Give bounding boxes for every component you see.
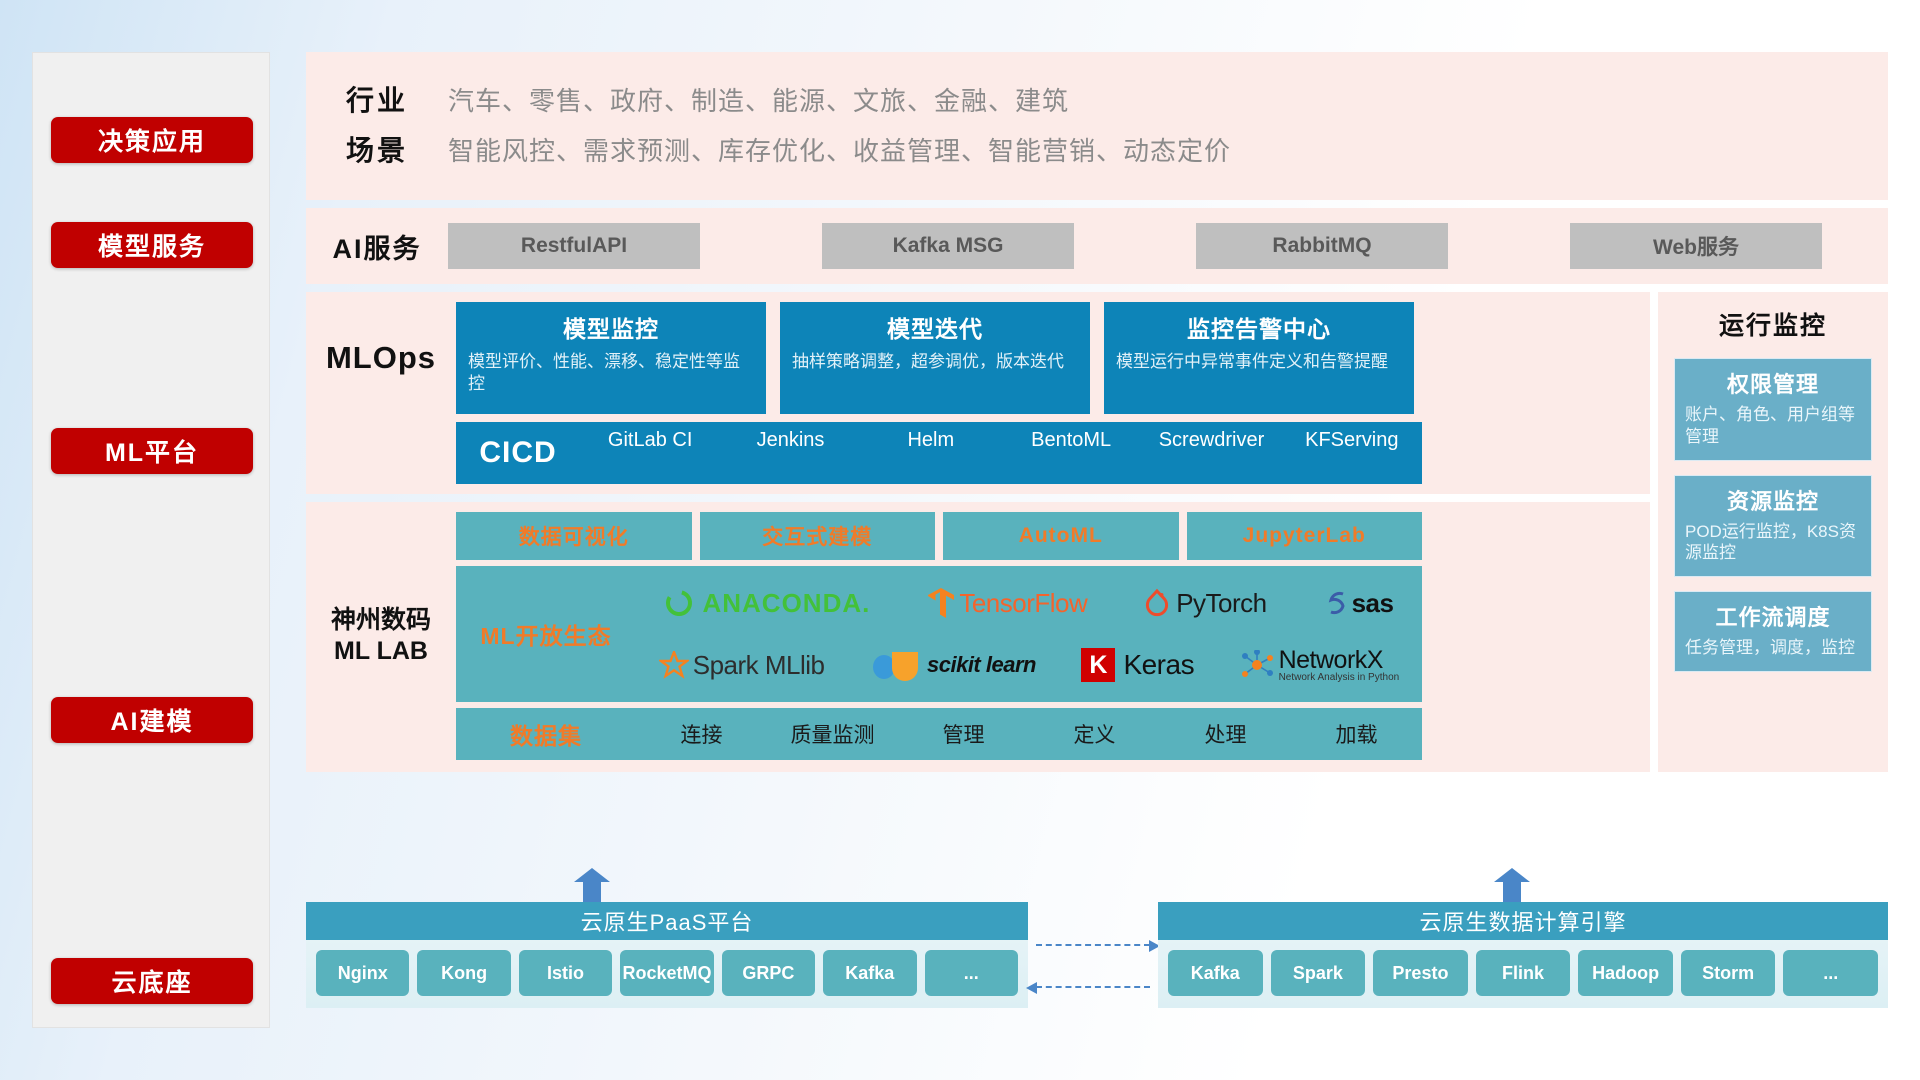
compute-chip-presto[interactable]: Presto bbox=[1373, 950, 1468, 996]
dataset-item-management[interactable]: 管理 bbox=[898, 719, 1029, 749]
link-arrow-right-icon bbox=[1036, 944, 1150, 946]
service-chip[interactable]: RestfulAPI bbox=[448, 223, 700, 269]
dataset-label: 数据集 bbox=[456, 717, 636, 751]
runtime-monitoring-title: 运行监控 bbox=[1674, 306, 1872, 342]
ml-ecosystem-logos: ANACONDA. TensorFlow bbox=[636, 572, 1422, 696]
ml-lab-tools: 数据可视化 交互式建模 AutoML JupyterLab bbox=[456, 512, 1422, 560]
cicd-item-kfserving[interactable]: KFServing bbox=[1282, 430, 1422, 476]
sas-icon bbox=[1324, 588, 1350, 618]
service-chip[interactable]: Kafka MSG bbox=[822, 223, 1074, 269]
networkx-logo: NetworkX Network Analysis in Python bbox=[1240, 648, 1400, 683]
networkx-icon bbox=[1240, 650, 1274, 680]
monitor-card-workflow-scheduling[interactable]: 工作流调度 任务管理，调度，监控 bbox=[1674, 591, 1872, 672]
ml-ecosystem-label: ML开放生态 bbox=[456, 617, 636, 651]
card-desc: POD运行监控，K8S资源监控 bbox=[1685, 521, 1861, 565]
tool-chip-jupyterlab[interactable]: JupyterLab bbox=[1187, 512, 1423, 560]
service-chip[interactable]: Web服务 bbox=[1570, 223, 1822, 269]
ml-lab-inner: 神州数码 ML LAB 数据可视化 交互式建模 AutoML JupyterLa… bbox=[306, 512, 1650, 760]
tensorflow-wordmark: TensorFlow bbox=[959, 588, 1087, 619]
compute-chip-flink[interactable]: Flink bbox=[1476, 950, 1571, 996]
ai-services-key: AI服务 bbox=[306, 227, 448, 266]
card-title: 工作流调度 bbox=[1685, 600, 1861, 632]
cicd-item-helm[interactable]: Helm bbox=[861, 430, 1001, 476]
layer-tag-label: 模型服务 bbox=[98, 227, 206, 263]
networkx-wordmark: NetworkX bbox=[1279, 648, 1400, 673]
layer-tag-cloud-foundation[interactable]: 云底座 bbox=[51, 958, 253, 1004]
compute-engine-title: 云原生数据计算引擎 bbox=[1158, 902, 1888, 940]
card-title: 资源监控 bbox=[1685, 484, 1861, 516]
compute-chip-list: Kafka Spark Presto Flink Hadoop Storm ..… bbox=[1158, 940, 1888, 1008]
cicd-item-jenkins[interactable]: Jenkins bbox=[720, 430, 860, 476]
scikit-learn-icon bbox=[870, 648, 924, 682]
card-desc: 任务管理，调度，监控 bbox=[1685, 637, 1861, 659]
paas-chip-kafka[interactable]: Kafka bbox=[823, 950, 916, 996]
paas-title: 云原生PaaS平台 bbox=[306, 902, 1028, 940]
mlops-band: MLOps 模型监控 模型评价、性能、漂移、稳定性等监控 模型迭代 抽样策略调整… bbox=[306, 292, 1650, 494]
arrow-up-paas-icon bbox=[574, 868, 610, 902]
mlops-key: MLOps bbox=[306, 340, 456, 376]
compute-chip-hadoop[interactable]: Hadoop bbox=[1578, 950, 1673, 996]
networkx-tagline: Network Analysis in Python bbox=[1279, 673, 1400, 683]
layer-tag-label: ML平台 bbox=[105, 433, 199, 469]
pytorch-icon bbox=[1144, 588, 1170, 618]
layer-tag-label: 云底座 bbox=[111, 963, 192, 999]
tensorflow-icon bbox=[927, 587, 955, 619]
ml-lab-key: 神州数码 ML LAB bbox=[306, 605, 456, 668]
anaconda-logo: ANACONDA. bbox=[664, 588, 870, 619]
keras-icon: K bbox=[1081, 648, 1115, 682]
mlops-card-list: 模型监控 模型评价、性能、漂移、稳定性等监控 模型迭代 抽样策略调整，超参调优，… bbox=[456, 302, 1414, 414]
tool-chip-data-visualization[interactable]: 数据可视化 bbox=[456, 512, 692, 560]
mlops-card-model-iteration[interactable]: 模型迭代 抽样策略调整，超参调优，版本迭代 bbox=[780, 302, 1090, 414]
card-desc: 账户、角色、用户组等管理 bbox=[1685, 404, 1861, 448]
layer-tag-label: AI建模 bbox=[110, 702, 193, 738]
sas-logo: sas bbox=[1324, 588, 1394, 619]
ml-ecosystem-row: ML开放生态 ANACONDA. bbox=[456, 566, 1422, 702]
dataset-item-processing[interactable]: 处理 bbox=[1160, 719, 1291, 749]
decision-applications-band: 行业 汽车、零售、政府、制造、能源、文旅、金融、建筑 场景 智能风控、需求预测、… bbox=[306, 52, 1888, 200]
spark-mllib-wordmark: Spark MLlib bbox=[693, 650, 825, 681]
keras-logo: K Keras bbox=[1081, 648, 1194, 682]
layer-tag-ml-platform[interactable]: ML平台 bbox=[51, 428, 253, 474]
ml-ecosystem-logo-row-2: Spark MLlib scikit learn bbox=[636, 634, 1422, 696]
platform-and-monitoring: MLOps 模型监控 模型评价、性能、漂移、稳定性等监控 模型迭代 抽样策略调整… bbox=[306, 292, 1888, 772]
paas-chip-grpc[interactable]: GRPC bbox=[722, 950, 815, 996]
mlops-card-model-monitoring[interactable]: 模型监控 模型评价、性能、漂移、稳定性等监控 bbox=[456, 302, 766, 414]
card-title: 监控告警中心 bbox=[1116, 310, 1402, 344]
paas-stack: 云原生PaaS平台 Nginx Kong Istio RocketMQ GRPC… bbox=[306, 902, 1028, 1008]
dataset-row: 数据集 连接 质量监测 管理 定义 处理 加载 bbox=[456, 708, 1422, 760]
scenario-value: 智能风控、需求预测、库存优化、收益管理、智能营销、动态定价 bbox=[448, 131, 1231, 168]
ml-lab-band: 神州数码 ML LAB 数据可视化 交互式建模 AutoML JupyterLa… bbox=[306, 502, 1650, 772]
architecture-main: 行业 汽车、零售、政府、制造、能源、文旅、金融、建筑 场景 智能风控、需求预测、… bbox=[306, 52, 1888, 772]
dataset-item-connect[interactable]: 连接 bbox=[636, 719, 767, 749]
keras-wordmark: Keras bbox=[1123, 649, 1194, 681]
dataset-item-definition[interactable]: 定义 bbox=[1029, 719, 1160, 749]
card-title: 权限管理 bbox=[1685, 367, 1861, 399]
anaconda-icon bbox=[664, 588, 694, 618]
card-desc: 模型评价、性能、漂移、稳定性等监控 bbox=[468, 351, 754, 395]
paas-chip-kong[interactable]: Kong bbox=[417, 950, 510, 996]
scenario-row: 场景 智能风控、需求预测、库存优化、收益管理、智能营销、动态定价 bbox=[306, 124, 1888, 174]
paas-chip-rocketmq[interactable]: RocketMQ bbox=[620, 950, 713, 996]
card-title: 模型迭代 bbox=[792, 310, 1078, 344]
layer-tag-decision-apps[interactable]: 决策应用 bbox=[51, 117, 253, 163]
cicd-label: CICD bbox=[456, 436, 580, 470]
anaconda-wordmark: ANACONDA. bbox=[702, 588, 870, 619]
mlops-row: MLOps 模型监控 模型评价、性能、漂移、稳定性等监控 模型迭代 抽样策略调整… bbox=[306, 302, 1650, 414]
industry-row: 行业 汽车、零售、政府、制造、能源、文旅、金融、建筑 bbox=[306, 74, 1888, 124]
compute-chip-more[interactable]: ... bbox=[1783, 950, 1878, 996]
tool-chip-automl[interactable]: AutoML bbox=[943, 512, 1179, 560]
scikit-learn-wordmark: scikit learn bbox=[927, 652, 1036, 678]
ml-lab-key-line2: ML LAB bbox=[306, 636, 456, 667]
service-chip[interactable]: RabbitMQ bbox=[1196, 223, 1448, 269]
paas-chip-nginx[interactable]: Nginx bbox=[316, 950, 409, 996]
pytorch-logo: PyTorch bbox=[1144, 588, 1266, 619]
cicd-item-bentoml[interactable]: BentoML bbox=[1001, 430, 1141, 476]
card-desc: 抽样策略调整，超参调优，版本迭代 bbox=[792, 351, 1078, 373]
tensorflow-logo: TensorFlow bbox=[927, 587, 1087, 619]
compute-engine-stack: 云原生数据计算引擎 Kafka Spark Presto Flink Hadoo… bbox=[1158, 902, 1888, 1008]
sas-wordmark: sas bbox=[1352, 588, 1394, 619]
scenario-key: 场景 bbox=[306, 129, 448, 169]
industry-value: 汽车、零售、政府、制造、能源、文旅、金融、建筑 bbox=[448, 81, 1069, 118]
cicd-item-screwdriver[interactable]: Screwdriver bbox=[1141, 430, 1281, 476]
link-arrow-left-icon bbox=[1036, 986, 1150, 988]
dataset-item-loading[interactable]: 加载 bbox=[1291, 719, 1422, 749]
spark-star-icon bbox=[659, 651, 689, 679]
layer-tag-label: 决策应用 bbox=[98, 122, 206, 158]
cicd-item-gitlab-ci[interactable]: GitLab CI bbox=[580, 430, 720, 476]
platform-column: MLOps 模型监控 模型评价、性能、漂移、稳定性等监控 模型迭代 抽样策略调整… bbox=[306, 292, 1650, 772]
card-desc: 模型运行中异常事件定义和告警提醒 bbox=[1116, 351, 1402, 373]
compute-chip-spark[interactable]: Spark bbox=[1271, 950, 1366, 996]
monitor-card-permissions[interactable]: 权限管理 账户、角色、用户组等管理 bbox=[1674, 358, 1872, 461]
paas-chip-istio[interactable]: Istio bbox=[519, 950, 612, 996]
layer-tag-model-service[interactable]: 模型服务 bbox=[51, 222, 253, 268]
mlops-card-alert-center[interactable]: 监控告警中心 模型运行中异常事件定义和告警提醒 bbox=[1104, 302, 1414, 414]
ai-services-band: AI服务 RestfulAPI Kafka MSG RabbitMQ Web服务 bbox=[306, 208, 1888, 284]
cicd-row: CICD GitLab CI Jenkins Helm BentoML Scre… bbox=[306, 422, 1650, 484]
monitor-card-resources[interactable]: 资源监控 POD运行监控，K8S资源监控 bbox=[1674, 475, 1872, 578]
spark-mllib-logo: Spark MLlib bbox=[659, 650, 825, 681]
compute-chip-storm[interactable]: Storm bbox=[1681, 950, 1776, 996]
dataset-item-quality-monitoring[interactable]: 质量监测 bbox=[767, 719, 898, 749]
arrow-up-compute-icon bbox=[1494, 868, 1530, 902]
cloud-foundation-layer: 云原生PaaS平台 Nginx Kong Istio RocketMQ GRPC… bbox=[306, 880, 1888, 1028]
ml-lab-body: 数据可视化 交互式建模 AutoML JupyterLab ML开放生态 bbox=[456, 512, 1422, 760]
compute-chip-kafka[interactable]: Kafka bbox=[1168, 950, 1263, 996]
scikit-learn-logo: scikit learn bbox=[870, 648, 1036, 682]
ml-lab-key-line1: 神州数码 bbox=[306, 605, 456, 636]
industry-key: 行业 bbox=[306, 79, 448, 119]
cicd-strip: CICD GitLab CI Jenkins Helm BentoML Scre… bbox=[456, 422, 1422, 484]
pytorch-wordmark: PyTorch bbox=[1176, 588, 1266, 619]
runtime-monitoring-panel: 运行监控 权限管理 账户、角色、用户组等管理 资源监控 POD运行监控，K8S资… bbox=[1658, 292, 1888, 772]
ml-ecosystem-logo-row-1: ANACONDA. TensorFlow bbox=[636, 572, 1422, 634]
ai-services-list: RestfulAPI Kafka MSG RabbitMQ Web服务 bbox=[448, 223, 1822, 269]
tool-chip-interactive-modeling[interactable]: 交互式建模 bbox=[700, 512, 936, 560]
layer-tag-ai-modeling[interactable]: AI建模 bbox=[51, 697, 253, 743]
layer-rail: 决策应用 模型服务 ML平台 AI建模 云底座 bbox=[32, 52, 270, 1028]
paas-chip-more[interactable]: ... bbox=[925, 950, 1018, 996]
card-title: 模型监控 bbox=[468, 310, 754, 344]
paas-chip-list: Nginx Kong Istio RocketMQ GRPC Kafka ... bbox=[306, 940, 1028, 1008]
